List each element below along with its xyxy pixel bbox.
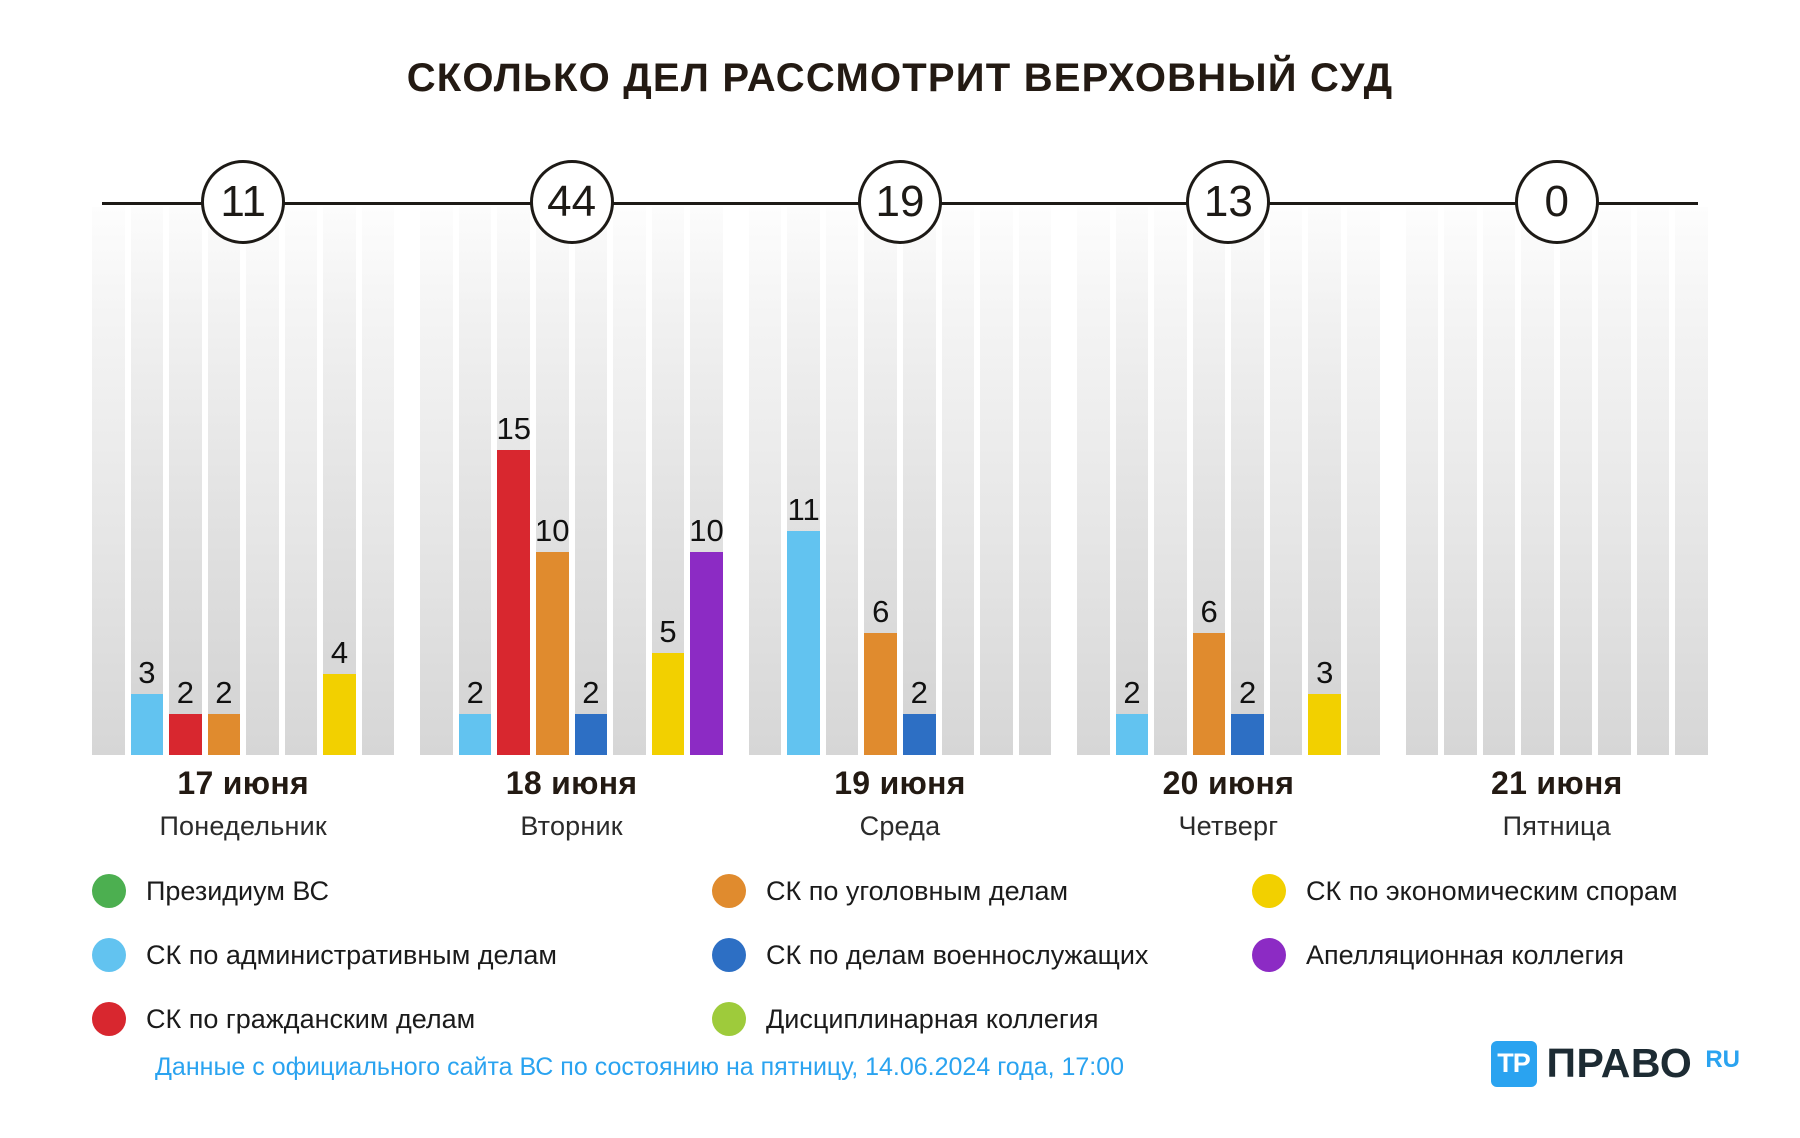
bar-slot-military	[1560, 207, 1593, 755]
day-date: 19 июня	[749, 765, 1051, 802]
pravo-logo[interactable]: ТР ПРАВО RU	[1491, 1040, 1740, 1087]
bar-slot-administrative: 2	[459, 207, 492, 755]
bar-slot-disciplinary	[1270, 207, 1303, 755]
bar-slot-economic: 3	[1308, 207, 1341, 755]
bar-civil[interactable]	[497, 450, 530, 755]
bar-slot-criminal: 6	[1193, 207, 1226, 755]
bar-value-label: 2	[215, 677, 232, 708]
bar-criminal[interactable]	[208, 714, 241, 755]
source-note: Данные с официального сайта ВС по состоя…	[155, 1053, 1124, 1082]
day-caption: 20 июняЧетверг	[1077, 765, 1379, 842]
bar-slot-economic	[980, 207, 1013, 755]
bar-administrative[interactable]	[787, 531, 820, 755]
legend-label: Апелляционная коллегия	[1306, 940, 1624, 971]
legend-label: СК по административным делам	[146, 940, 557, 971]
day-total-badge: 11	[201, 160, 285, 244]
bar-slot-administrative: 11	[787, 207, 820, 755]
bar-value-label: 2	[467, 677, 484, 708]
bar-slot-appeal	[362, 207, 395, 755]
bar-administrative[interactable]	[131, 694, 164, 755]
bar-economic[interactable]	[323, 674, 356, 755]
day-panel: 11621919 июняСреда	[749, 115, 1051, 755]
day-weekday: Четверг	[1077, 811, 1379, 842]
legend-swatch-icon	[92, 938, 126, 972]
bar-military[interactable]	[575, 714, 608, 755]
bar-slot-appeal	[1675, 207, 1708, 755]
bar-slot-criminal	[1521, 207, 1554, 755]
bar-slot-appeal	[1347, 207, 1380, 755]
day-total-badge: 0	[1515, 160, 1599, 244]
bar-slot-military	[246, 207, 279, 755]
bar-slot-administrative	[1444, 207, 1477, 755]
bar-slot-economic: 5	[652, 207, 685, 755]
bar-appeal[interactable]	[690, 552, 723, 755]
day-panel: 26231320 июняЧетверг	[1077, 115, 1379, 755]
day-date: 18 июня	[420, 765, 722, 802]
legend-swatch-icon	[712, 938, 746, 972]
bar-slot-criminal: 2	[208, 207, 241, 755]
day-caption: 17 июняПонедельник	[92, 765, 394, 842]
bar-slot-presidium	[1077, 207, 1110, 755]
bar-slot-civil	[826, 207, 859, 755]
legend-label: СК по гражданским делам	[146, 1004, 475, 1035]
day-weekday: Пятница	[1406, 811, 1708, 842]
day-total-badge: 44	[530, 160, 614, 244]
page-title: СКОЛЬКО ДЕЛ РАССМОТРИТ ВЕРХОВНЫЙ СУД	[0, 56, 1800, 101]
legend-swatch-icon	[1252, 938, 1286, 972]
bar-value-label: 2	[1239, 677, 1256, 708]
legend-swatch-icon	[712, 1002, 746, 1036]
day-date: 20 июня	[1077, 765, 1379, 802]
logo-mark-icon: ТР	[1491, 1041, 1537, 1087]
day-total-badge: 19	[858, 160, 942, 244]
bar-criminal[interactable]	[1193, 633, 1226, 755]
bar-value-label: 6	[872, 596, 889, 627]
day-panel: 2151025104418 июняВторник	[420, 115, 722, 755]
bar-chart: 32241117 июняПонедельник2151025104418 ию…	[92, 115, 1708, 755]
bar-slot-civil: 15	[497, 207, 530, 755]
chart-legend: Президиум ВССК по уголовным деламСК по э…	[92, 865, 1708, 1045]
day-columns: 1162	[749, 207, 1051, 755]
bar-slot-presidium	[749, 207, 782, 755]
day-columns: 215102510	[420, 207, 722, 755]
bar-slot-civil: 2	[169, 207, 202, 755]
infographic-root: СКОЛЬКО ДЕЛ РАССМОТРИТ ВЕРХОВНЫЙ СУД 322…	[0, 0, 1800, 1138]
bar-economic[interactable]	[652, 653, 685, 755]
bar-value-label: 2	[582, 677, 599, 708]
day-panel: 32241117 июняПонедельник	[92, 115, 394, 755]
bar-administrative[interactable]	[1116, 714, 1149, 755]
logo-suffix: RU	[1705, 1046, 1740, 1074]
day-caption: 21 июняПятница	[1406, 765, 1708, 842]
bar-value-label: 2	[177, 677, 194, 708]
bar-criminal[interactable]	[536, 552, 569, 755]
bar-slot-military: 2	[575, 207, 608, 755]
bar-slot-civil	[1154, 207, 1187, 755]
day-weekday: Вторник	[420, 811, 722, 842]
bar-slot-disciplinary	[285, 207, 318, 755]
bar-slot-disciplinary	[613, 207, 646, 755]
bar-value-label: 11	[788, 494, 820, 525]
bar-slot-disciplinary	[1598, 207, 1631, 755]
day-caption: 19 июняСреда	[749, 765, 1051, 842]
bar-value-label: 4	[331, 637, 348, 668]
day-caption: 18 июняВторник	[420, 765, 722, 842]
legend-swatch-icon	[92, 874, 126, 908]
bar-value-label: 15	[497, 413, 531, 444]
legend-item-disciplinary[interactable]: Дисциплинарная коллегия	[712, 1002, 1252, 1036]
bar-slot-economic	[1637, 207, 1670, 755]
bar-value-label: 2	[1123, 677, 1140, 708]
legend-item-criminal[interactable]: СК по уголовным делам	[712, 874, 1252, 908]
bar-value-label: 10	[535, 515, 569, 546]
legend-label: СК по уголовным делам	[766, 876, 1068, 907]
bar-slot-presidium	[420, 207, 453, 755]
day-date: 21 июня	[1406, 765, 1708, 802]
bar-value-label: 6	[1200, 596, 1217, 627]
bar-military[interactable]	[1231, 714, 1264, 755]
bar-value-label: 3	[1316, 657, 1333, 688]
day-weekday: Среда	[749, 811, 1051, 842]
logo-wordmark: ПРАВО	[1547, 1040, 1693, 1087]
bar-economic[interactable]	[1308, 694, 1341, 755]
bar-slot-appeal	[1019, 207, 1052, 755]
legend-swatch-icon	[92, 1002, 126, 1036]
legend-item-presidium[interactable]: Президиум ВС	[92, 874, 712, 908]
legend-label: СК по делам военнослужащих	[766, 940, 1148, 971]
bar-military[interactable]	[903, 714, 936, 755]
bar-criminal[interactable]	[864, 633, 897, 755]
legend-item-administrative[interactable]: СК по административным делам	[92, 938, 712, 972]
legend-label: Президиум ВС	[146, 876, 329, 907]
bar-slot-civil	[1483, 207, 1516, 755]
legend-item-appeal[interactable]: Апелляционная коллегия	[1252, 938, 1708, 972]
legend-item-civil[interactable]: СК по гражданским делам	[92, 1002, 712, 1036]
bar-slot-criminal: 10	[536, 207, 569, 755]
day-weekday: Понедельник	[92, 811, 394, 842]
bar-slot-military: 2	[903, 207, 936, 755]
day-columns: 2623	[1077, 207, 1379, 755]
bar-slot-administrative: 3	[131, 207, 164, 755]
day-columns	[1406, 207, 1708, 755]
legend-item-military[interactable]: СК по делам военнослужащих	[712, 938, 1252, 972]
day-columns: 3224	[92, 207, 394, 755]
bar-slot-presidium	[1406, 207, 1439, 755]
legend-label: СК по экономическим спорам	[1306, 876, 1678, 907]
bar-slot-criminal: 6	[864, 207, 897, 755]
bar-slot-appeal: 10	[690, 207, 723, 755]
legend-item-economic[interactable]: СК по экономическим спорам	[1252, 874, 1708, 908]
legend-swatch-icon	[1252, 874, 1286, 908]
bar-slot-disciplinary	[942, 207, 975, 755]
legend-swatch-icon	[712, 874, 746, 908]
day-total-badge: 13	[1186, 160, 1270, 244]
bar-value-label: 10	[689, 515, 723, 546]
legend-label: Дисциплинарная коллегия	[766, 1004, 1098, 1035]
bar-value-label: 3	[138, 657, 155, 688]
bar-slot-military: 2	[1231, 207, 1264, 755]
bar-civil[interactable]	[169, 714, 202, 755]
bar-value-label: 5	[659, 616, 676, 647]
bar-slot-presidium	[92, 207, 125, 755]
day-panel: 021 июняПятница	[1406, 115, 1708, 755]
bar-slot-economic: 4	[323, 207, 356, 755]
bar-administrative[interactable]	[459, 714, 492, 755]
day-date: 17 июня	[92, 765, 394, 802]
bar-value-label: 2	[911, 677, 928, 708]
bar-slot-administrative: 2	[1116, 207, 1149, 755]
